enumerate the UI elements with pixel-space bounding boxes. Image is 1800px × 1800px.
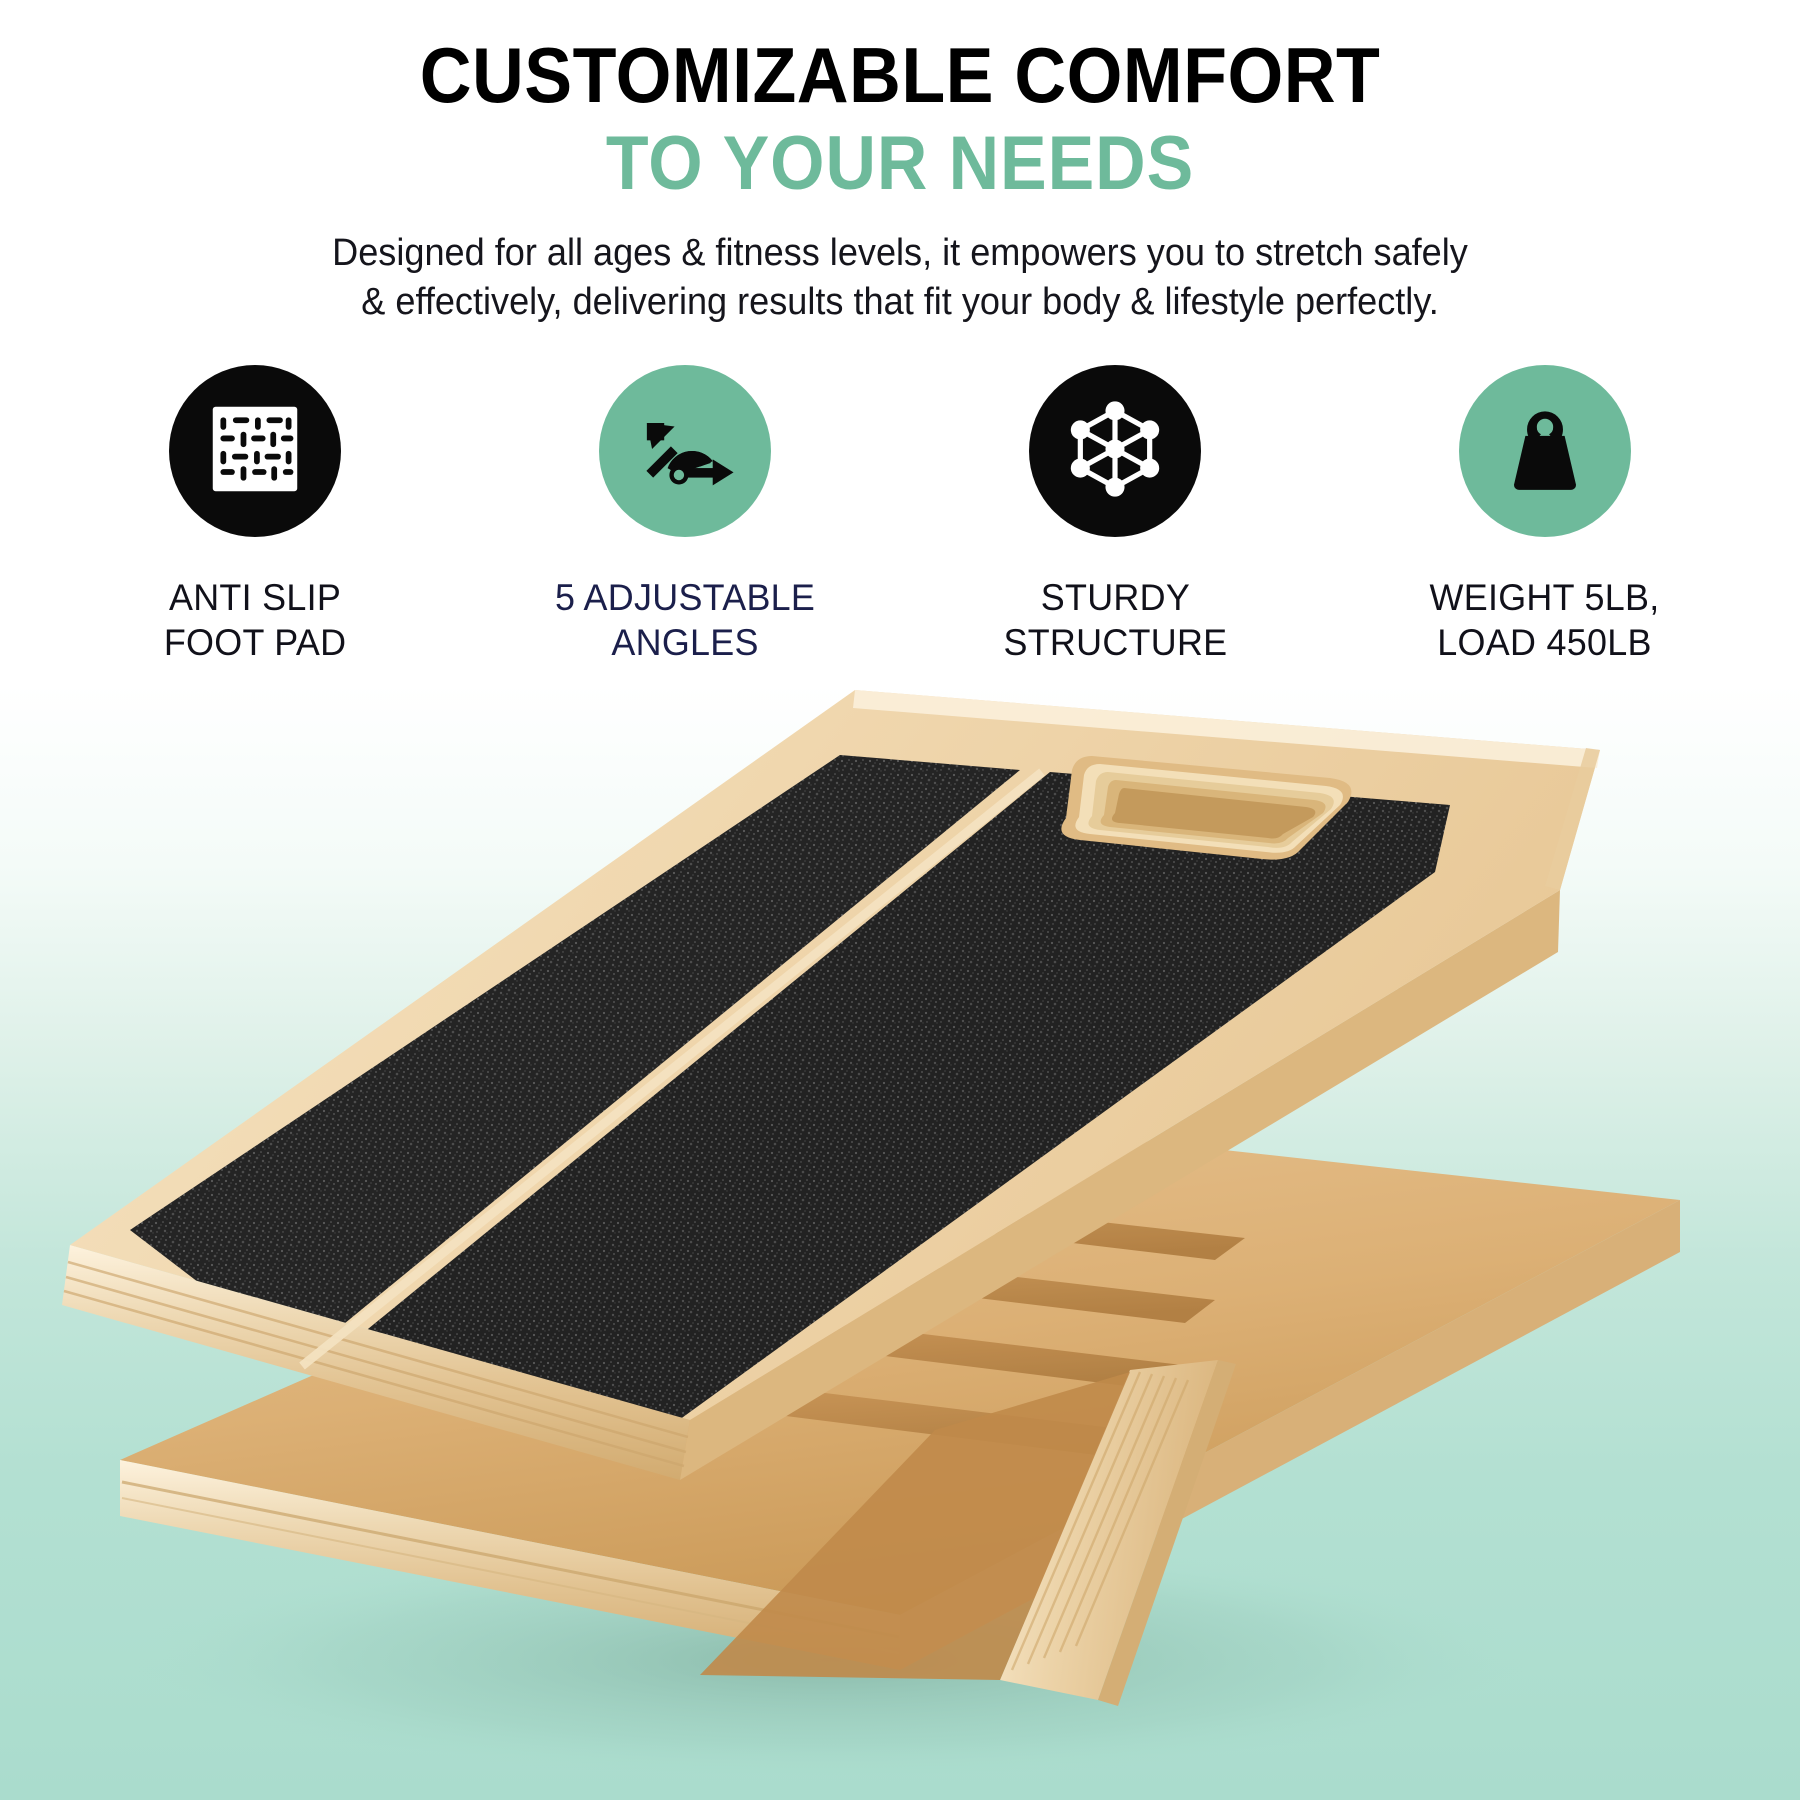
feature-label-anti-slip: ANTI SLIP FOOT PAD: [164, 575, 346, 665]
anti-slip-icon-circle: [169, 365, 341, 537]
product-image-slant-board: [0, 660, 1800, 1800]
feature-label-line-1: STURDY: [1003, 575, 1227, 620]
subtitle-line-2: & effectively, delivering results that f…: [45, 278, 1755, 327]
feature-item-adjustable-angles: 5 ADJUSTABLE ANGLES: [490, 365, 880, 665]
feature-list: ANTI SLIP FOOT PAD: [60, 365, 1740, 665]
molecular-structure-icon: [1063, 397, 1167, 506]
adjustable-angles-icon-circle: [599, 365, 771, 537]
subtitle-line-1: Designed for all ages & fitness levels, …: [45, 229, 1755, 278]
feature-label-line-2: LOAD 450LB: [1430, 620, 1660, 665]
feature-label-weight-load: WEIGHT 5LB, LOAD 450LB: [1430, 575, 1660, 665]
feature-label-sturdy-structure: STURDY STRUCTURE: [1003, 575, 1227, 665]
weight-load-icon-circle: [1459, 365, 1631, 537]
feature-label-line-2: ANGLES: [555, 620, 815, 665]
sturdy-structure-icon-circle: [1029, 365, 1201, 537]
feature-label-line-1: 5 ADJUSTABLE: [555, 575, 815, 620]
feature-label-line-2: FOOT PAD: [164, 620, 346, 665]
subtitle-text: Designed for all ages & fitness levels, …: [45, 229, 1755, 326]
feature-item-weight-load: WEIGHT 5LB, LOAD 450LB: [1350, 365, 1740, 665]
weight-kettlebell-icon: [1496, 400, 1594, 503]
feature-label-line-2: STRUCTURE: [1003, 620, 1227, 665]
headline-primary: CUSTOMIZABLE COMFORT: [72, 36, 1728, 114]
feature-label-adjustable-angles: 5 ADJUSTABLE ANGLES: [555, 575, 815, 665]
header-section: CUSTOMIZABLE COMFORT TO YOUR NEEDS Desig…: [0, 0, 1800, 327]
feature-item-sturdy-structure: STURDY STRUCTURE: [920, 365, 1310, 665]
feature-label-line-1: ANTI SLIP: [164, 575, 346, 620]
anti-slip-texture-icon: [207, 401, 303, 502]
feature-item-anti-slip: ANTI SLIP FOOT PAD: [60, 365, 450, 665]
headline-secondary: TO YOUR NEEDS: [72, 120, 1728, 207]
feature-label-line-1: WEIGHT 5LB,: [1430, 575, 1660, 620]
infographic-page: CUSTOMIZABLE COMFORT TO YOUR NEEDS Desig…: [0, 0, 1800, 1800]
adjustable-angle-icon: [633, 397, 737, 506]
